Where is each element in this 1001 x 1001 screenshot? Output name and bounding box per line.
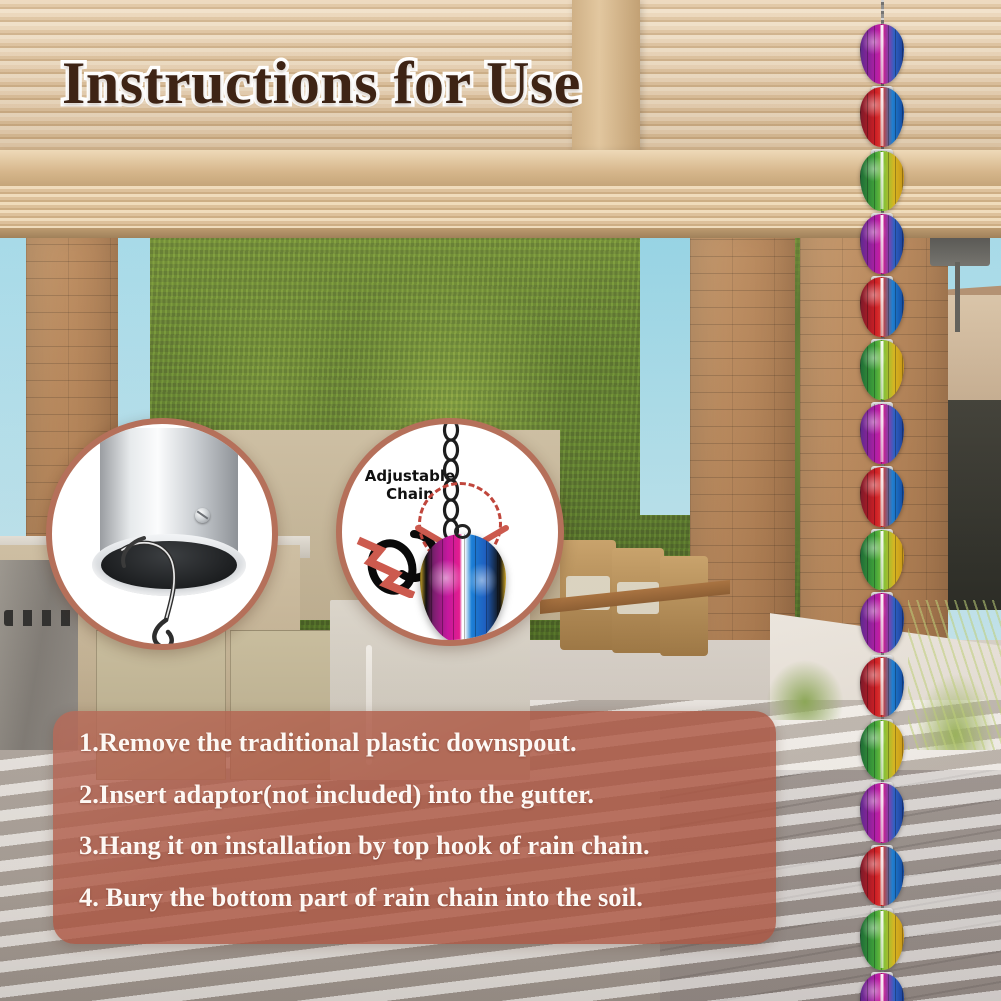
rain-chain-ornament [860,973,904,1001]
callout-gutter-adaptor [46,418,278,650]
agave-plant [750,600,860,720]
s-hook-icon [114,532,234,650]
pergola-header-beam [0,150,1001,186]
rain-chain-ornament [860,24,904,84]
rain-chain-ornament [860,657,904,717]
instructions-panel: 1.Remove the traditional plastic downspo… [53,711,776,944]
instruction-step: 1.Remove the traditional plastic downspo… [79,729,760,756]
rain-chain-ornament [860,783,904,843]
pergola-lower-slats [0,186,1001,230]
rain-chain-ornament [860,151,904,211]
pergola-edge [0,228,1001,238]
rain-chain-ornament [860,593,904,653]
rain-chain-ornament [860,340,904,400]
rain-chain-ornament [860,214,904,274]
rain-chain-cup [420,534,506,644]
rain-chain-ornament [860,87,904,147]
instruction-step: 4. Bury the bottom part of rain chain in… [79,884,760,911]
rain-chain [862,0,902,1001]
rain-chain-ornament [860,467,904,527]
rain-chain-ornament [860,277,904,337]
patio-chair [660,556,708,656]
instruction-steps-list: 1.Remove the traditional plastic downspo… [79,729,760,910]
adaptor-screw [195,508,210,523]
callout-adjustable-chain: Adjustable Chain [336,418,564,646]
rain-chain-ornament [860,720,904,780]
ornamental-grass [908,600,1001,750]
product-instruction-image: Instructions for Use Adjustable Chain [0,0,1001,1001]
rain-chain-ornament [860,530,904,590]
grill-knobs [4,610,76,626]
patio-lamp-arm [955,262,960,332]
instruction-step: 3.Hang it on installation by top hook of… [79,832,760,859]
page-title: Instructions for Use [62,52,581,115]
rain-chain-ornament [860,846,904,906]
rain-chain-ornament [860,404,904,464]
cup-top-ring [454,524,471,539]
rain-chain-ornament [860,910,904,970]
instruction-step: 2.Insert adaptor(not included) into the … [79,781,760,808]
